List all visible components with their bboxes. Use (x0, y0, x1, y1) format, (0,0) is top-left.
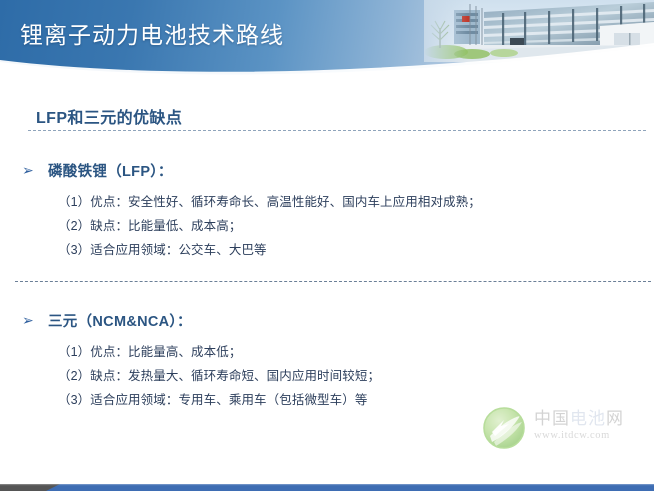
list-item: （3）适合应用领域：公交车、大巴等 (58, 238, 654, 262)
content-block-ncm-nca: ➢ 三元（NCM&NCA）： （1）优点：比能量高、成本低； （2）缺点：发热量… (0, 310, 654, 412)
section-title-block: LFP和三元的优缺点 (0, 104, 654, 136)
list-item: （1）优点：比能量高、成本低； (58, 340, 654, 364)
bottom-accent-bar (0, 481, 654, 491)
watermark-brand-part1: 中国 (534, 409, 570, 428)
watermark-url: www.itdcw.com (534, 429, 650, 443)
block-heading-row: ➢ 磷酸铁锂（LFP）： (0, 160, 654, 186)
watermark-text: 中国电池网 www.itdcw.com (534, 408, 650, 443)
block-heading-lfp: 磷酸铁锂（LFP）： (48, 160, 173, 181)
globe-logo-icon (482, 406, 526, 450)
arrow-bullet-icon: ➢ (22, 163, 36, 177)
slide-header: 锂离子动力电池技术路线 (0, 0, 654, 86)
list-item: （2）缺点：比能量低、成本高； (58, 214, 654, 238)
section-title-underline (28, 130, 646, 131)
list-item: （2）缺点：发热量大、循环寿命短、国内应用时间较短； (58, 364, 654, 388)
content-block-lfp: ➢ 磷酸铁锂（LFP）： （1）优点：安全性好、循环寿命长、高温性能好、国内车上… (0, 160, 654, 262)
arrow-bullet-icon: ➢ (22, 313, 36, 327)
watermark-brand-part3: 网 (606, 409, 624, 428)
section-heading: LFP和三元的优缺点 (36, 104, 182, 128)
block-heading-ncm: 三元（NCM&NCA）： (48, 310, 192, 331)
header-building-photo (424, 0, 654, 78)
block-lines-lfp: （1）优点：安全性好、循环寿命长、高温性能好、国内车上应用相对成熟； （2）缺点… (0, 186, 654, 262)
watermark-brand: 中国电池网 (534, 408, 650, 429)
list-item: （1）优点：安全性好、循环寿命长、高温性能好、国内车上应用相对成熟； (58, 190, 654, 214)
watermark-brand-part2: 电池 (570, 409, 606, 428)
block-heading-row: ➢ 三元（NCM&NCA）： (0, 310, 654, 336)
section-divider (15, 281, 651, 282)
watermark-logo: 中国电池网 www.itdcw.com (482, 406, 650, 454)
block-lines-ncm: （1）优点：比能量高、成本低； （2）缺点：发热量大、循环寿命短、国内应用时间较… (0, 336, 654, 412)
page-title: 锂离子动力电池技术路线 (20, 18, 284, 52)
